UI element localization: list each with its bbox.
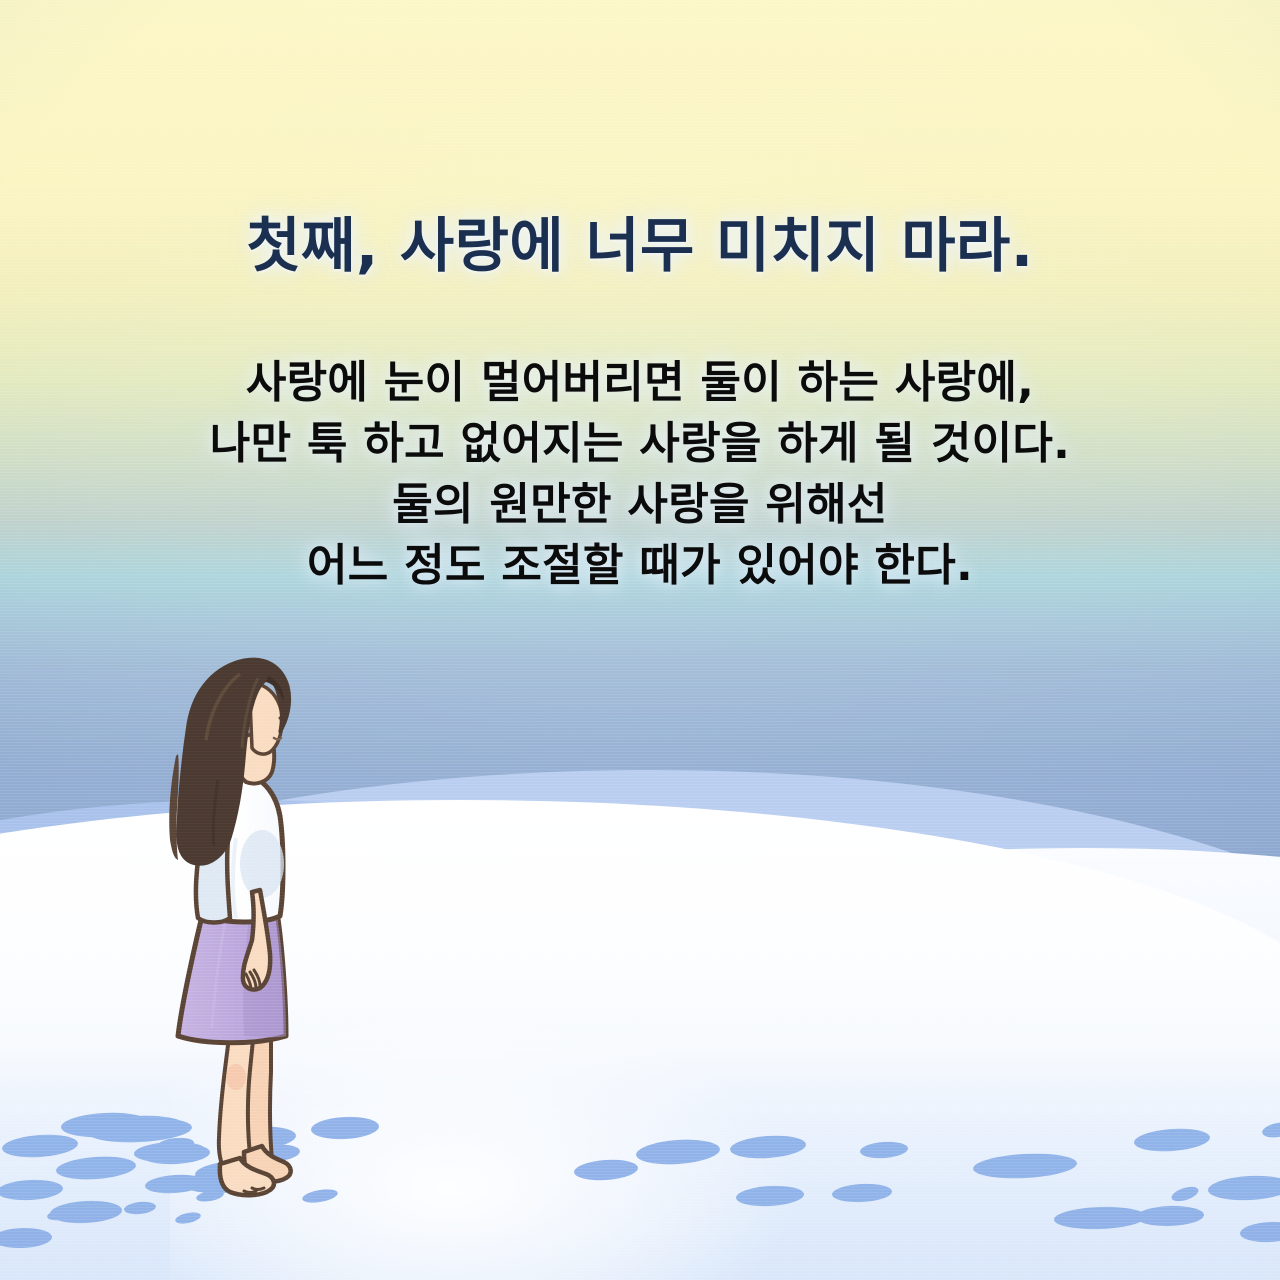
woman-illustration: [140, 640, 380, 1200]
woman-figure: [140, 640, 380, 1200]
body-line-4: 어느 정도 조절할 때가 있어야 한다.: [0, 535, 1280, 596]
body-text: 사랑에 눈이 멀어버리면 둘이 하는 사랑에, 나만 툭 하고 없어지는 사랑을…: [0, 352, 1280, 596]
body-line-1: 사랑에 눈이 멀어버리면 둘이 하는 사랑에,: [0, 352, 1280, 413]
quote-card: 첫째, 사랑에 너무 미치지 마라. 사랑에 눈이 멀어버리면 둘이 하는 사랑…: [0, 0, 1280, 1280]
body-line-3: 둘의 원만한 사랑을 위해선: [0, 474, 1280, 535]
headline: 첫째, 사랑에 너무 미치지 마라.: [0, 214, 1280, 279]
body-line-2: 나만 툭 하고 없어지는 사랑을 하게 될 것이다.: [0, 413, 1280, 474]
